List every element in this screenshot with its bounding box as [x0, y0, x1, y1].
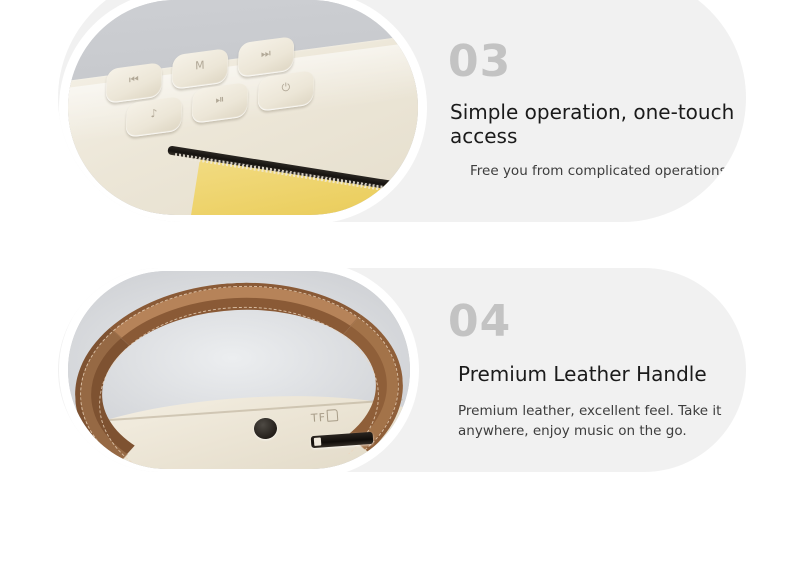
feature-description-03: Free you from complicated operations	[470, 162, 746, 182]
feature-description-04: Premium leather, excellent feel. Take it…	[458, 402, 738, 441]
feature-title-03: Simple operation, one-touch access	[450, 100, 746, 148]
mode-icon: M	[172, 56, 228, 74]
product-photo-handle: TF	[68, 271, 410, 469]
play-pause-icon: ⏯	[192, 90, 248, 109]
feature-copy-03: 03 Simple operation, one-touch access Fr…	[448, 40, 746, 182]
product-photo-buttons: ⏮ M ⏭ ♪ ⏯ ⏻	[68, 0, 418, 215]
previous-track-icon: ⏮	[106, 70, 162, 89]
volume-icon: ♪	[126, 104, 182, 122]
tf-label-text: TF	[311, 411, 327, 425]
feature-title-04: Premium Leather Handle	[458, 362, 738, 386]
power-icon: ⏻	[258, 78, 314, 97]
feature-copy-04: 04 Premium Leather Handle Premium leathe…	[448, 300, 738, 441]
step-number-04: 04	[448, 300, 738, 344]
step-number-03: 03	[448, 40, 746, 84]
next-track-icon: ⏭	[238, 44, 294, 63]
feature-card-03: ⏮ M ⏭ ♪ ⏯ ⏻ 03 Simple operation, one-tou…	[58, 0, 746, 222]
tf-card-label: TF	[311, 409, 339, 425]
feature-card-04: TF 04 Premium Leather Handle Premium lea…	[58, 268, 746, 472]
memory-card-icon	[327, 409, 339, 422]
